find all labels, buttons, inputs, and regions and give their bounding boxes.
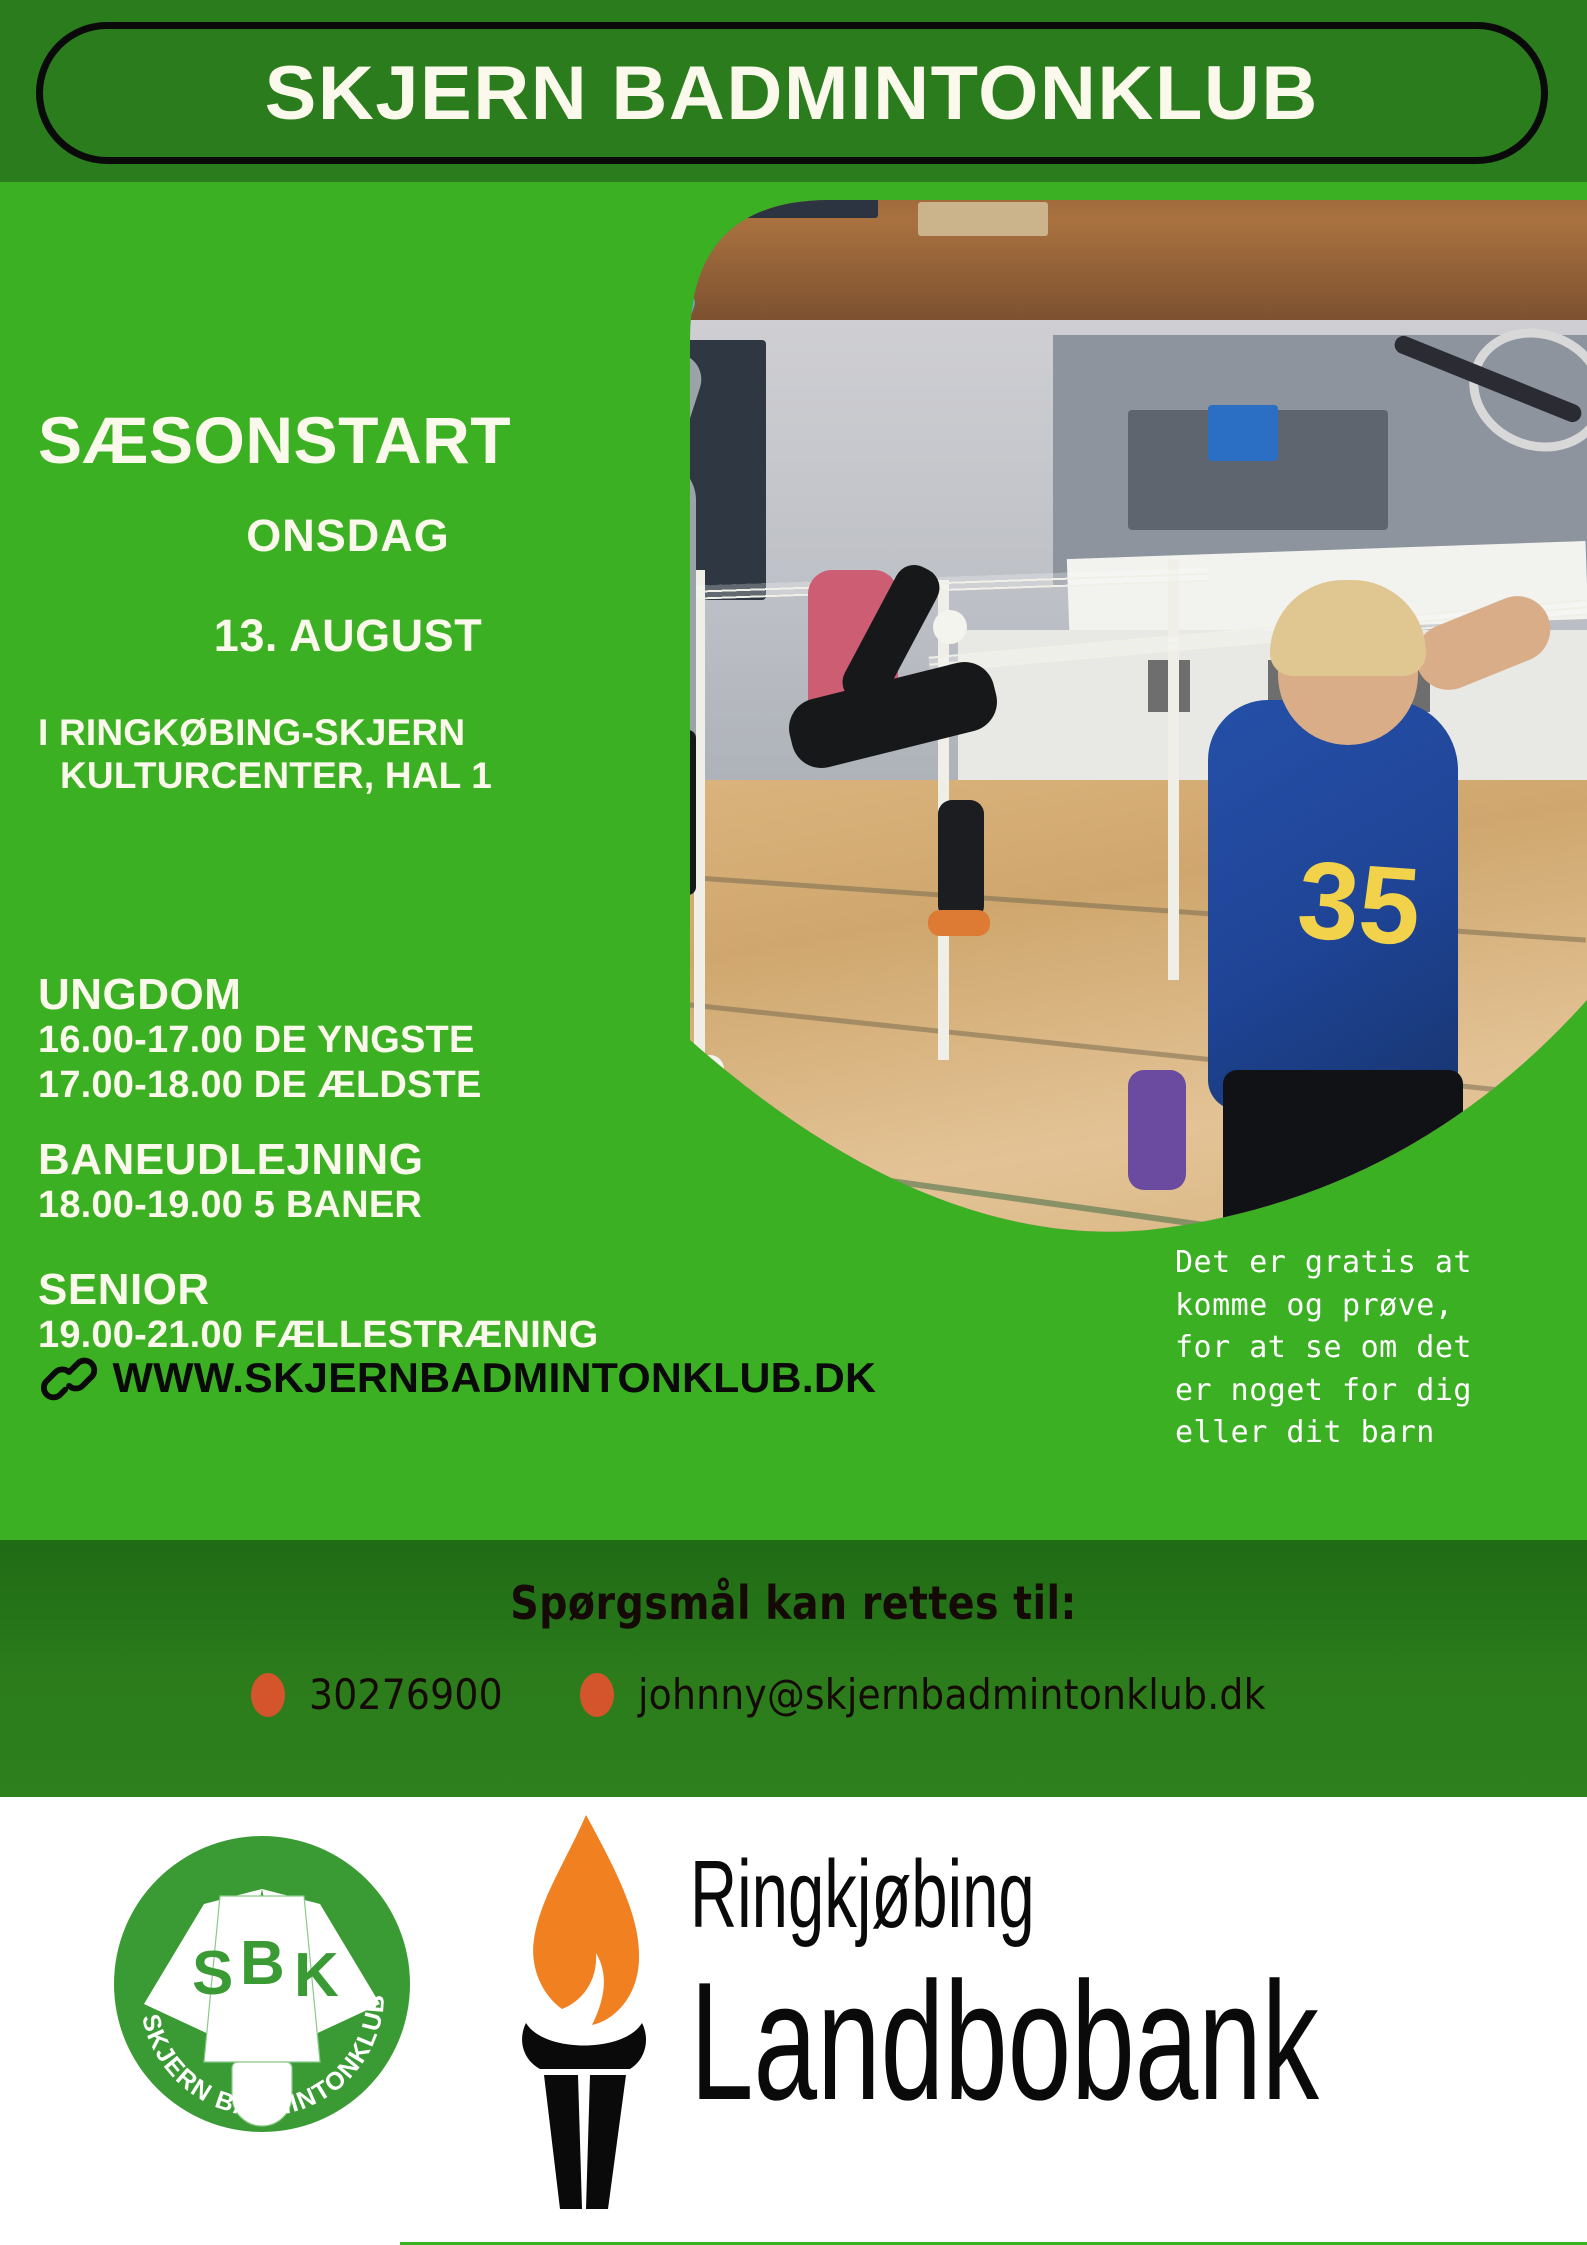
contact-email-value[interactable]: johnny@skjernbadmintonklub.dk bbox=[638, 1670, 1266, 1719]
logo-letter-s: S bbox=[192, 1939, 233, 2008]
photo-shuttlecock bbox=[933, 610, 967, 644]
poster-root: SKJERN BADMINTONKLUB bbox=[0, 0, 1587, 2245]
photo-boy-number: 35 bbox=[1294, 836, 1425, 971]
contact-title: Spørgsmål kan rettes til: bbox=[111, 1576, 1476, 1630]
photo-bg-child bbox=[938, 800, 984, 920]
main-green-area: 35 SÆSONSTART ONSDAG 13. AUGUST I RINGKØ… bbox=[0, 182, 1587, 1540]
contact-phone-value[interactable]: 30276900 bbox=[309, 1670, 503, 1719]
contact-row: 30276900 johnny@skjernbadmintonklub.dk bbox=[0, 1670, 1587, 1719]
torch-flame bbox=[533, 1815, 639, 2025]
schedule-line: 16.00-17.00 DE YNGSTE bbox=[38, 1018, 482, 1063]
event-venue: I RINGKØBING-SKJERN KULTURCENTER, HAL 1 bbox=[38, 712, 698, 798]
header-band: SKJERN BADMINTONKLUB bbox=[0, 0, 1587, 182]
schedule-heading: BANEUDLEJNING bbox=[38, 1137, 423, 1183]
website-row[interactable]: WWW.SKJERNBADMINTONKLUB.DK bbox=[40, 1347, 869, 1409]
photo-bg-child-2 bbox=[1128, 1070, 1186, 1190]
schedule-block-ungdom: UNGDOM 16.00-17.00 DE YNGSTE 17.00-18.00… bbox=[38, 972, 482, 1108]
torch-handle-left bbox=[544, 2075, 582, 2209]
logo-letter-k: K bbox=[294, 1941, 339, 2010]
photo-coach-leg bbox=[636, 880, 688, 1075]
photo-coach-hair bbox=[566, 396, 658, 452]
event-date: 13. AUGUST bbox=[38, 610, 658, 662]
photo-coach-shoe bbox=[628, 1055, 724, 1097]
torch-bowl bbox=[522, 2023, 646, 2069]
sponsor-name: Ringkjøbing Landbobank bbox=[690, 1847, 1580, 2125]
season-start-headline: SÆSONSTART bbox=[38, 402, 511, 478]
free-note-line: er noget for dig bbox=[1175, 1370, 1575, 1413]
photo-coach-head bbox=[570, 406, 656, 502]
photo-net-post bbox=[1168, 560, 1179, 980]
photo-coach-racket bbox=[642, 289, 697, 387]
club-title-pill: SKJERN BADMINTONKLUB bbox=[36, 22, 1548, 164]
link-chain-icon bbox=[40, 1347, 102, 1409]
contact-phone[interactable]: 30276900 bbox=[251, 1670, 524, 1719]
schedule-block-baneudlejning: BANEUDLEJNING 18.00-19.00 5 BANER bbox=[38, 1137, 423, 1228]
event-weekday: ONSDAG bbox=[38, 510, 658, 562]
contact-band: Spørgsmål kan rettes til: 30276900 johnn… bbox=[0, 1540, 1587, 1797]
free-trial-note: Det er gratis at komme og prøve, for at … bbox=[1175, 1242, 1575, 1455]
free-note-line: for at se om det bbox=[1175, 1327, 1575, 1370]
email-dot-icon bbox=[580, 1673, 614, 1717]
schedule-line: 18.00-19.00 5 BANER bbox=[38, 1183, 423, 1228]
footer-sponsor-band: S B K SKJERN BADMINTONKLUB Ringkjøbing L… bbox=[0, 1797, 1587, 2245]
photo-hall-sign bbox=[628, 182, 878, 218]
photo-bg-child-shoe bbox=[928, 910, 990, 936]
free-note-line: komme og prøve, bbox=[1175, 1285, 1575, 1328]
venue-line-2: KULTURCENTER, HAL 1 bbox=[38, 755, 698, 798]
club-title: SKJERN BADMINTONKLUB bbox=[265, 50, 1319, 137]
sponsor-name-line-1: Ringkjøbing bbox=[690, 1847, 1295, 1943]
schedule-line: 17.00-18.00 DE ÆLDSTE bbox=[38, 1063, 482, 1108]
logo-letter-b: B bbox=[240, 1929, 285, 1998]
photo-hall-sign-2 bbox=[918, 202, 1048, 236]
torch-handle-right bbox=[586, 2075, 626, 2209]
torch-flame-icon bbox=[500, 1807, 670, 2217]
schedule-heading: UNGDOM bbox=[38, 972, 482, 1018]
photo-blue-box bbox=[1208, 405, 1278, 461]
website-url[interactable]: WWW.SKJERNBADMINTONKLUB.DK bbox=[113, 1354, 877, 1402]
contact-email[interactable]: johnny@skjernbadmintonklub.dk bbox=[580, 1670, 1335, 1719]
free-note-line: Det er gratis at bbox=[1175, 1242, 1575, 1285]
phone-dot-icon bbox=[251, 1673, 285, 1717]
free-note-line: eller dit barn bbox=[1175, 1412, 1575, 1455]
sponsor-name-line-2: Landbobank bbox=[690, 1957, 1295, 2125]
photo-coach-shoe bbox=[546, 1045, 632, 1089]
schedule-heading: SENIOR bbox=[38, 1267, 598, 1313]
schedule-block-senior: SENIOR 19.00-21.00 FÆLLESTRÆNING bbox=[38, 1267, 598, 1358]
photo-boy-shorts bbox=[1223, 1070, 1463, 1250]
sbk-club-logo: S B K SKJERN BADMINTONKLUB bbox=[112, 1834, 412, 2134]
photo-coach-leg bbox=[566, 880, 616, 1065]
venue-line-1: I RINGKØBING-SKJERN bbox=[38, 712, 465, 753]
